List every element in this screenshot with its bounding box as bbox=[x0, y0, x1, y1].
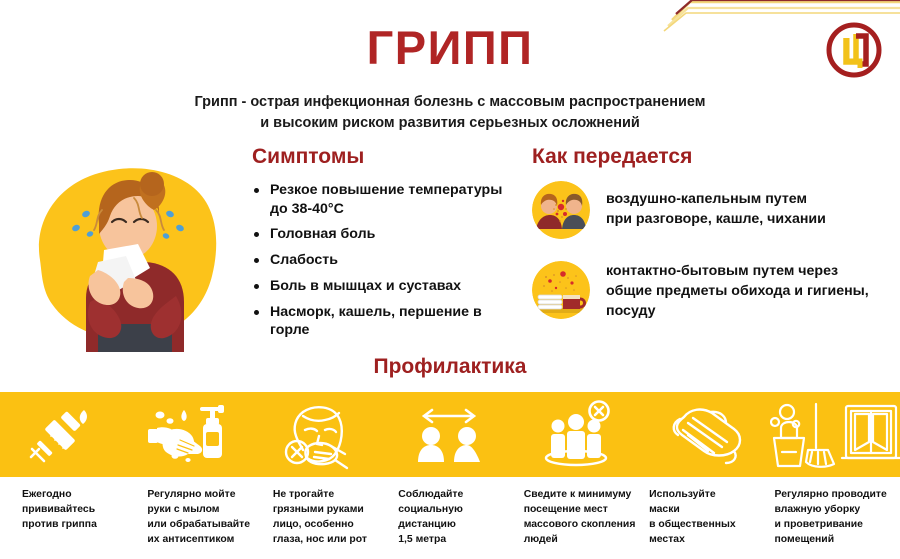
symptoms-list: Резкое повышение температуры до 38-40°С … bbox=[252, 181, 517, 340]
subtitle-line-1: Грипп - острая инфекционная болезнь с ма… bbox=[195, 94, 706, 110]
transmission-line: контактно-бытовым путем через bbox=[606, 261, 869, 281]
transmission-text: контактно-бытовым путем через общие пред… bbox=[606, 261, 869, 321]
caption-line: людей bbox=[524, 532, 641, 547]
prevention-icon-cell bbox=[0, 392, 128, 477]
caption-line: Регулярно мойте bbox=[147, 487, 264, 502]
caption-line: руки с мылом bbox=[147, 502, 264, 517]
caption-line: 1,5 метра bbox=[398, 532, 515, 547]
prevention-caption: Сведите к минимуму посещение мест массов… bbox=[524, 487, 649, 559]
caption-line: Сведите к минимуму bbox=[524, 487, 641, 502]
caption-line: лицо, особенно bbox=[273, 517, 390, 532]
prevention-icon-cell bbox=[642, 392, 770, 477]
caption-line: дистанцию bbox=[398, 517, 515, 532]
transmission-heading: Как передается bbox=[532, 146, 882, 167]
prevention-captions: Ежегодно прививайтесь против гриппа Регу… bbox=[0, 487, 900, 559]
transmission-line: посуду bbox=[606, 301, 869, 321]
list-item: Насморк, кашель, першение в горле bbox=[252, 303, 517, 340]
handwashing-soap-icon bbox=[148, 402, 236, 468]
caption-line: маски bbox=[649, 502, 766, 517]
prevention-caption: Соблюдайте социальную дистанцию 1,5 метр… bbox=[398, 487, 523, 559]
prevention-icon-cell bbox=[770, 392, 900, 477]
transmission-text: воздушно-капельным путем при разговоре, … bbox=[606, 181, 826, 229]
list-item: Боль в мышцах и суставах bbox=[252, 277, 517, 296]
transmission-line: воздушно-капельным путем bbox=[606, 189, 826, 209]
transmission-line: общие предметы обихода и гигиены, bbox=[606, 281, 869, 301]
prevention-caption: Не трогайте грязными руками лицо, особен… bbox=[273, 487, 398, 559]
caption-line: социальную bbox=[398, 502, 515, 517]
social-distance-icon bbox=[407, 404, 491, 466]
no-touching-face-icon bbox=[281, 400, 361, 470]
transmission-line: при разговоре, кашле, чихании bbox=[606, 209, 826, 229]
caption-line: Не трогайте bbox=[273, 487, 390, 502]
prevention-icon-cell bbox=[128, 392, 256, 477]
prevention-icon-cell bbox=[257, 392, 385, 477]
caption-line: помещений bbox=[775, 532, 892, 547]
list-item: Головная боль bbox=[252, 225, 517, 244]
list-item: Резкое повышение температуры до 38-40°С bbox=[252, 181, 517, 218]
prevention-icon-cell bbox=[385, 392, 513, 477]
caption-line: грязными руками bbox=[273, 502, 390, 517]
symptom-line: Насморк, кашель, першение bbox=[270, 304, 469, 320]
caption-line: в общественных bbox=[649, 517, 766, 532]
caption-line: их антисептиком bbox=[147, 532, 264, 547]
caption-line: против гриппа bbox=[22, 517, 139, 532]
two-people-talking-droplets-icon bbox=[532, 181, 590, 239]
subtitle-line-2: и высоким риском развития серьезных осло… bbox=[150, 113, 750, 134]
caption-line: Регулярно проводите bbox=[775, 487, 892, 502]
prevention-caption: Регулярно мойте руки с мылом или обрабат… bbox=[147, 487, 272, 559]
caption-line: влажную уборку bbox=[775, 502, 892, 517]
symptoms-section: Симптомы Резкое повышение температуры до… bbox=[252, 146, 517, 347]
page-title: ГРИПП bbox=[0, 24, 900, 71]
cleaning-bucket-mop-window-icon bbox=[770, 400, 900, 470]
caption-line: Используйте bbox=[649, 487, 766, 502]
no-crowd-icon bbox=[536, 400, 618, 470]
symptom-line: Резкое повышение bbox=[270, 182, 404, 198]
caption-line: посещение мест bbox=[524, 502, 641, 517]
transmission-row: контактно-бытовым путем через общие пред… bbox=[532, 261, 882, 321]
caption-line: Ежегодно bbox=[22, 487, 139, 502]
face-mask-icon bbox=[664, 401, 748, 469]
list-item: Слабость bbox=[252, 251, 517, 270]
caption-line: или обрабатывайте bbox=[147, 517, 264, 532]
prevention-caption: Регулярно проводите влажную уборку и про… bbox=[775, 487, 900, 559]
syringe-icon bbox=[27, 404, 101, 466]
caption-line: и проветривание bbox=[775, 517, 892, 532]
prevention-icon-cell bbox=[513, 392, 641, 477]
prevention-caption: Ежегодно прививайтесь против гриппа bbox=[0, 487, 147, 559]
symptom-line: Боль в мышцах и суставах bbox=[270, 278, 461, 294]
symptom-line: Головная боль bbox=[270, 226, 375, 242]
caption-line: прививайтесь bbox=[22, 502, 139, 517]
caption-line: глаза, нос или рот bbox=[273, 532, 390, 547]
page-subtitle: Грипп - острая инфекционная болезнь с ма… bbox=[150, 92, 750, 134]
infographic-page: ГРИПП Грипп - острая инфекционная болезн… bbox=[0, 0, 900, 559]
plates-and-mug-icon bbox=[532, 261, 590, 319]
transmission-row: воздушно-капельным путем при разговоре, … bbox=[532, 181, 882, 239]
sneezing-woman-illustration bbox=[28, 152, 228, 352]
caption-line: массового скопления bbox=[524, 517, 641, 532]
caption-line: Соблюдайте bbox=[398, 487, 515, 502]
symptoms-heading: Симптомы bbox=[252, 146, 517, 167]
prevention-icon-band bbox=[0, 392, 900, 477]
symptom-line: Слабость bbox=[270, 252, 338, 268]
prevention-heading: Профилактика bbox=[0, 356, 900, 377]
prevention-caption: Используйте маски в общественных местах bbox=[649, 487, 774, 559]
caption-line: местах bbox=[649, 532, 766, 547]
transmission-section: Как передается bbox=[532, 146, 882, 343]
